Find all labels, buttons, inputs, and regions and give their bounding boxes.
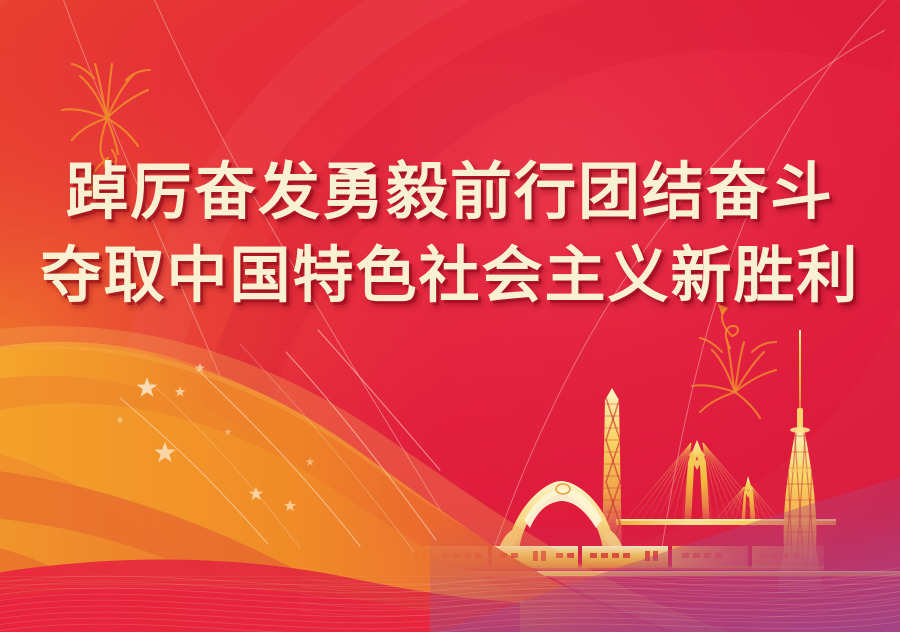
poster-canvas: 踔厉奋发勇毅前行团结奋斗 夺取中国特色社会主义新胜利 xyxy=(0,0,900,632)
five-pointed-stars xyxy=(116,363,314,511)
light-streak-lines xyxy=(120,330,440,546)
stars-streaks-layer xyxy=(0,0,900,632)
light-streak-lines-thin xyxy=(150,344,414,552)
